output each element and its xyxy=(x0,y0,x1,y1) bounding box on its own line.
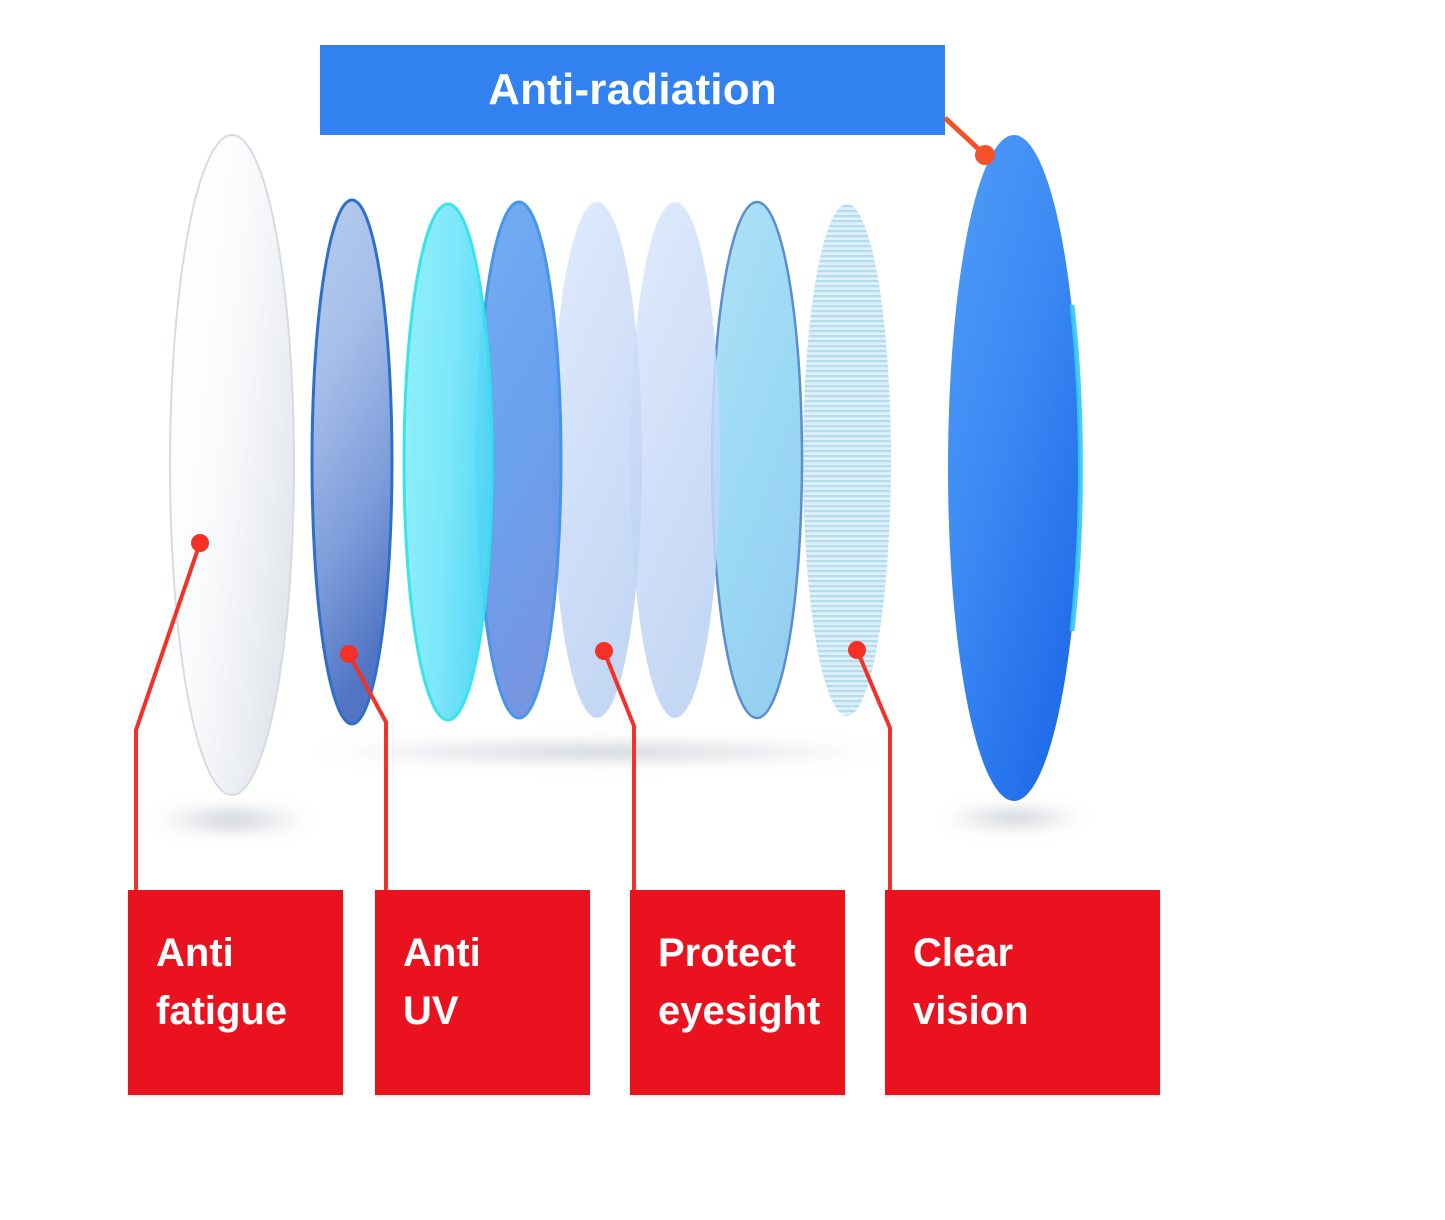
callout-line1-protect-eyesight: Protect xyxy=(658,931,796,975)
leader-line-clear-vision xyxy=(857,650,890,890)
leader-dot-anti-radiation xyxy=(975,145,995,165)
callout-line2-clear-vision: vision xyxy=(913,982,1160,1040)
callout-box-anti-uv: Anti UV xyxy=(375,890,590,1095)
leader-dot-protect-eyesight xyxy=(595,642,613,660)
leader-line-anti-uv xyxy=(349,654,386,890)
leader-line-protect-eyesight xyxy=(604,651,634,890)
callout-line2-protect-eyesight: eyesight xyxy=(658,982,845,1040)
callout-line2-anti-uv: UV xyxy=(403,982,590,1040)
leader-line-anti-fatigue xyxy=(136,543,200,890)
callout-line1-anti-fatigue: Anti xyxy=(156,931,234,975)
leader-dot-anti-uv xyxy=(340,645,358,663)
callout-box-protect-eyesight: Protect eyesight xyxy=(630,890,845,1095)
callout-line1-anti-uv: Anti xyxy=(403,931,481,975)
diagram-canvas: Anti-radiation Anti fatigue Anti UV Prot… xyxy=(0,0,1445,1220)
callout-box-clear-vision: Clear vision xyxy=(885,890,1160,1095)
callout-line1-clear-vision: Clear xyxy=(913,931,1013,975)
callout-box-anti-fatigue: Anti fatigue xyxy=(128,890,343,1095)
callout-line2-anti-fatigue: fatigue xyxy=(156,982,343,1040)
leader-dot-anti-fatigue xyxy=(191,534,209,552)
leader-dot-clear-vision xyxy=(848,641,866,659)
